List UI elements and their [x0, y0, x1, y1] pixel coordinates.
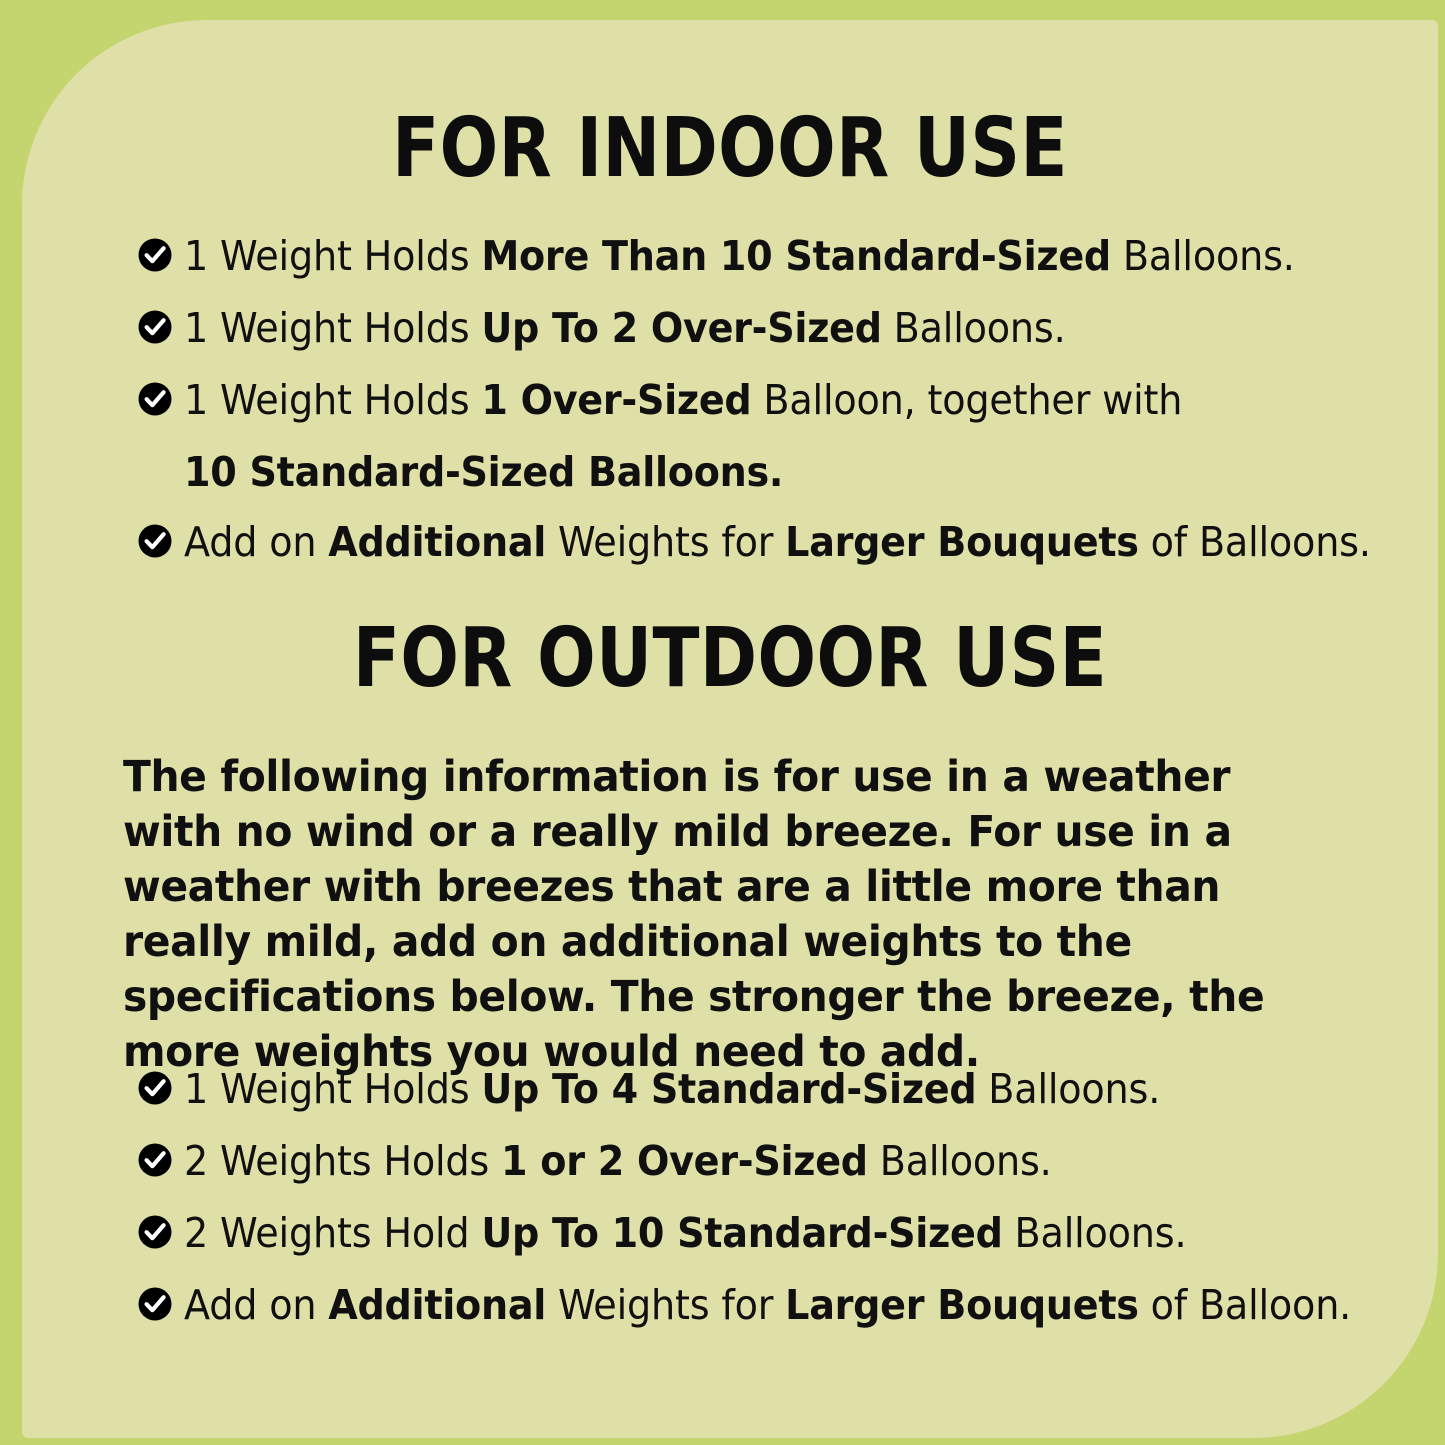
check-circle-icon: [138, 238, 172, 272]
page-title-outdoor: FOR OUTDOOR USE: [135, 618, 1324, 700]
outdoor-bullet-3-text: 2 Weights Hold Up To 10 Standard-Sized B…: [184, 1202, 1186, 1265]
check-circle-icon: [138, 1287, 172, 1321]
plain-text: Balloons.: [868, 1137, 1052, 1185]
outdoor-bullet-4-text: Add on Additional Weights for Larger Bou…: [184, 1274, 1351, 1337]
check-circle-icon: [138, 382, 172, 416]
plain-text: 2 Weights Holds: [184, 1137, 501, 1185]
emphasis-text: 10 Standard-Sized Balloons.: [184, 448, 783, 496]
card-content: FOR INDOOR USE 1 Weight Holds More Than …: [22, 20, 1438, 1438]
emphasis-text: 1 or 2 Over-Sized: [501, 1137, 868, 1185]
indoor-bullet-3-continuation: 10 Standard-Sized Balloons.: [184, 441, 783, 511]
plain-text: Balloons.: [976, 1065, 1160, 1113]
indoor-bullet-2-text: 1 Weight Holds Up To 2 Over-Sized Balloo…: [184, 297, 1066, 360]
emphasis-text: Additional: [328, 518, 546, 566]
indoor-bullet-list: 1 Weight Holds More Than 10 Standard-Siz…: [22, 225, 1438, 583]
plain-text: Balloons.: [1003, 1209, 1187, 1257]
emphasis-text: Up To 2 Over-Sized: [481, 304, 881, 352]
plain-text: of Balloon.: [1139, 1281, 1351, 1329]
plain-text: 1 Weight Holds: [184, 304, 481, 352]
plain-text: Weights for: [546, 518, 785, 566]
check-circle-icon: [138, 310, 172, 344]
list-item: 1 Weight Holds More Than 10 Standard-Siz…: [22, 225, 1438, 297]
plain-text: of Balloons.: [1139, 518, 1371, 566]
indoor-bullet-1-text: 1 Weight Holds More Than 10 Standard-Siz…: [184, 225, 1295, 288]
info-card: FOR INDOOR USE 1 Weight Holds More Than …: [22, 20, 1438, 1438]
plain-text: 1 Weight Holds: [184, 376, 481, 424]
emphasis-text: More Than 10 Standard-Sized: [481, 232, 1111, 280]
plain-text: 1 Weight Holds: [184, 232, 481, 280]
outdoor-bullet-list: 1 Weight Holds Up To 4 Standard-Sized Ba…: [22, 1058, 1438, 1346]
emphasis-text: Additional: [328, 1281, 546, 1329]
list-item: Add on Additional Weights for Larger Bou…: [22, 511, 1438, 583]
list-item: 1 Weight Holds 1 Over-Sized Balloon, tog…: [22, 369, 1438, 441]
check-circle-icon: [138, 1071, 172, 1105]
check-circle-icon: [138, 1215, 172, 1249]
list-item: Add on Additional Weights for Larger Bou…: [22, 1274, 1438, 1346]
emphasis-text: Up To 4 Standard-Sized: [481, 1065, 976, 1113]
plain-text: Balloons.: [1111, 232, 1295, 280]
list-item-continuation: 10 Standard-Sized Balloons.: [22, 441, 1438, 511]
page-title-indoor: FOR INDOOR USE: [135, 108, 1324, 190]
plain-text: Balloons.: [882, 304, 1066, 352]
emphasis-text: 1 Over-Sized: [481, 376, 751, 424]
outdoor-bullet-2-text: 2 Weights Holds 1 or 2 Over-Sized Balloo…: [184, 1130, 1052, 1193]
list-item: 1 Weight Holds Up To 2 Over-Sized Balloo…: [22, 297, 1438, 369]
emphasis-text: Larger Bouquets: [785, 1281, 1139, 1329]
indoor-bullet-4-text: Add on Additional Weights for Larger Bou…: [184, 511, 1371, 574]
plain-text: Add on: [184, 1281, 328, 1329]
plain-text: Weights for: [546, 1281, 785, 1329]
emphasis-text: Larger Bouquets: [785, 518, 1139, 566]
plain-text: 1 Weight Holds: [184, 1065, 481, 1113]
outdoor-bullet-1-text: 1 Weight Holds Up To 4 Standard-Sized Ba…: [184, 1058, 1160, 1121]
outdoor-intro-paragraph: The following information is for use in …: [123, 750, 1320, 1080]
indoor-bullet-3-text: 1 Weight Holds 1 Over-Sized Balloon, tog…: [184, 369, 1182, 432]
list-item: 2 Weights Hold Up To 10 Standard-Sized B…: [22, 1202, 1438, 1274]
list-item: 1 Weight Holds Up To 4 Standard-Sized Ba…: [22, 1058, 1438, 1130]
plain-text: Balloon, together with: [751, 376, 1182, 424]
check-circle-icon: [138, 1143, 172, 1177]
emphasis-text: Up To 10 Standard-Sized: [481, 1209, 1002, 1257]
check-circle-icon: [138, 524, 172, 558]
plain-text: 2 Weights Hold: [184, 1209, 481, 1257]
list-item: 2 Weights Holds 1 or 2 Over-Sized Balloo…: [22, 1130, 1438, 1202]
outdoor-intro-text: The following information is for use in …: [123, 750, 1320, 1080]
poster-background: FOR INDOOR USE 1 Weight Holds More Than …: [0, 0, 1445, 1445]
plain-text: Add on: [184, 518, 328, 566]
